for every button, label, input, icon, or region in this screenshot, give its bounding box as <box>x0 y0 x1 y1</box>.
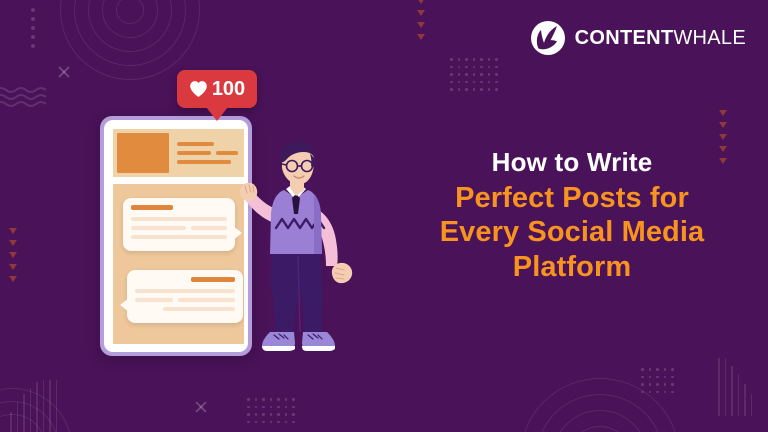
dot-grid-bottom-right-icon <box>641 368 674 393</box>
waves-left-icon <box>0 86 54 112</box>
brand-name-bold: CONTENT <box>575 27 674 49</box>
bubble-text-row <box>135 289 235 293</box>
post-header-line <box>177 151 211 155</box>
bubble-text-row <box>131 226 227 230</box>
dot-grid-bottom-center-icon <box>247 398 295 423</box>
bubble-title-bar <box>131 205 173 210</box>
triangles-left-icon <box>9 228 17 282</box>
rings-bottom-right-icon <box>520 378 680 432</box>
vertical-lines-bottom-left-icon <box>10 380 57 432</box>
dots-column-top-left-icon <box>31 8 35 48</box>
like-count: 100 <box>212 79 245 99</box>
triangles-top-center-icon <box>417 0 425 40</box>
vertical-lines-bottom-right-icon <box>718 358 752 416</box>
headline-title: Perfect Posts for Every Social Media Pla… <box>396 181 748 284</box>
headline-title-line-3: Platform <box>396 250 748 284</box>
standing-person-icon <box>222 142 370 360</box>
heart-icon <box>189 80 208 98</box>
like-badge[interactable]: 100 <box>177 70 257 108</box>
dot-grid-top-center-icon <box>450 58 498 91</box>
whale-circle-icon <box>530 20 566 56</box>
x-mark-bottom-center-icon <box>194 400 208 414</box>
chat-bubble-outgoing <box>123 198 235 251</box>
bubble-text-row <box>131 235 227 239</box>
character-illustration <box>222 142 370 360</box>
x-mark-left-icon <box>57 65 71 79</box>
bubble-text-row <box>131 217 227 221</box>
bubble-text-row <box>135 298 235 302</box>
post-header-line <box>177 142 214 146</box>
headline-subtitle: How to Write <box>396 148 748 177</box>
brand-logo[interactable]: CONTENTWHALE <box>530 20 746 56</box>
brand-name-light: WHALE <box>673 27 746 49</box>
rings-top-left-icon <box>60 0 200 80</box>
headline-block: How to Write Perfect Posts for Every Soc… <box>396 148 748 284</box>
rings-bottom-far-left-icon <box>0 388 72 432</box>
post-thumbnail <box>117 133 169 173</box>
headline-title-line-2: Every Social Media <box>396 215 748 249</box>
brand-name: CONTENTWHALE <box>575 27 746 50</box>
headline-title-line-1: Perfect Posts for <box>396 181 748 215</box>
banner-canvas: CONTENTWHALE How to Write Perfect Posts … <box>0 0 768 432</box>
bubble-text-row <box>135 307 235 311</box>
